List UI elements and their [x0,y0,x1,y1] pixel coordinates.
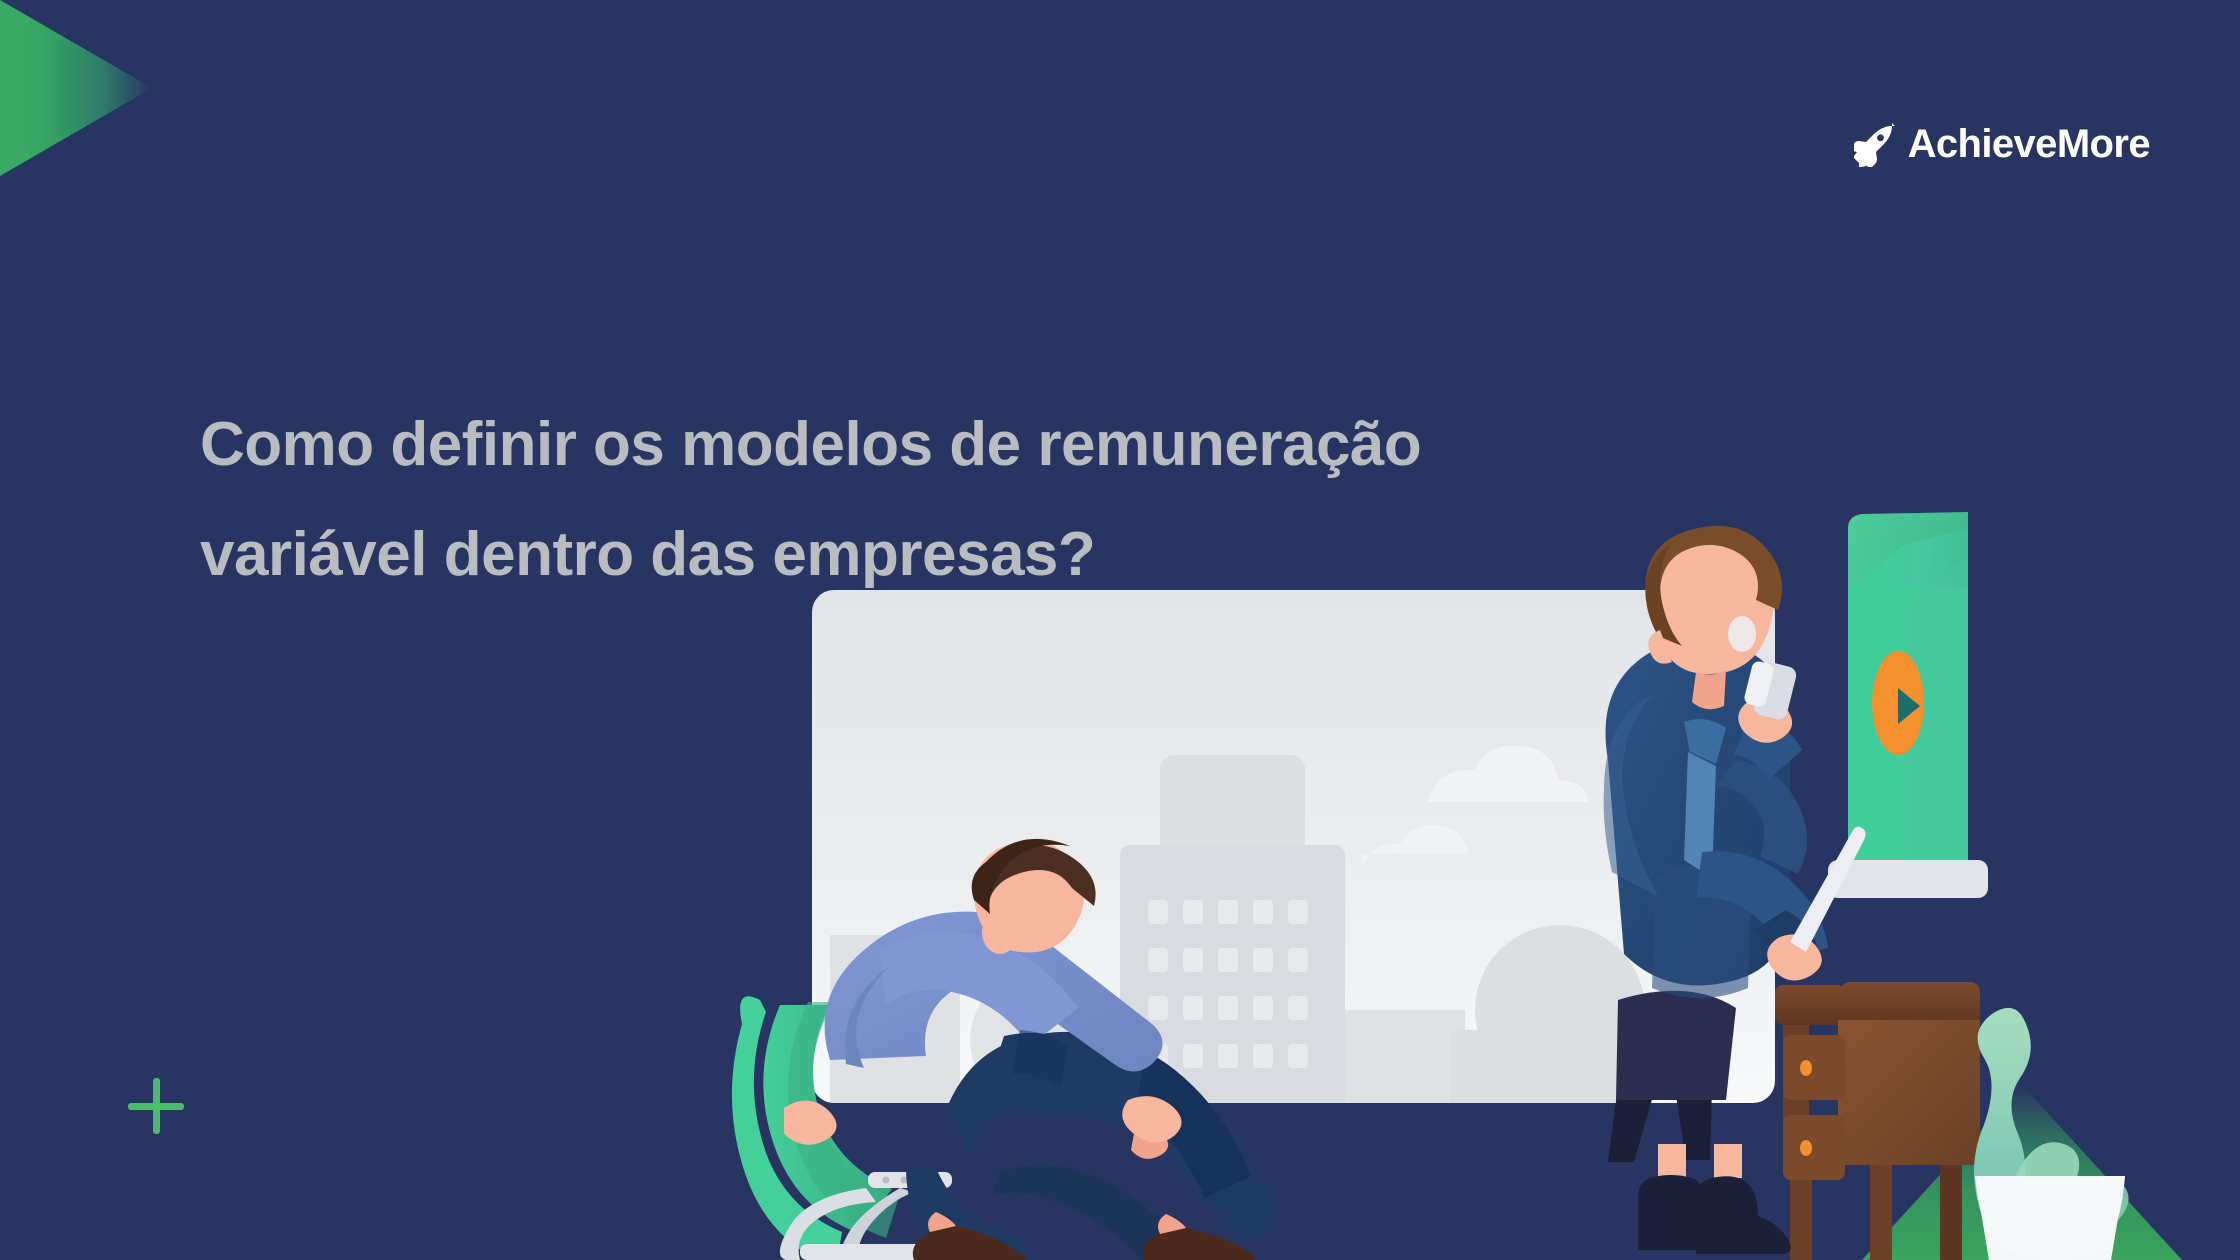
cabinet-knob [1800,1140,1812,1156]
rocket-icon [1854,123,1898,167]
cabinet-knob [1800,1060,1812,1076]
potted-plant [1974,1008,2129,1260]
office-presentation-illustration [0,0,2240,1260]
brand-wordmark: AchieveMore [1908,122,2150,167]
wooden-cabinet [1775,982,1980,1260]
brand-logo[interactable]: AchieveMore [1854,122,2150,167]
board-base [1828,860,1988,898]
slide-canvas: Como definir os modelos de remuneração v… [0,0,2240,1260]
page-title: Como definir os modelos de remuneração v… [200,390,1430,610]
